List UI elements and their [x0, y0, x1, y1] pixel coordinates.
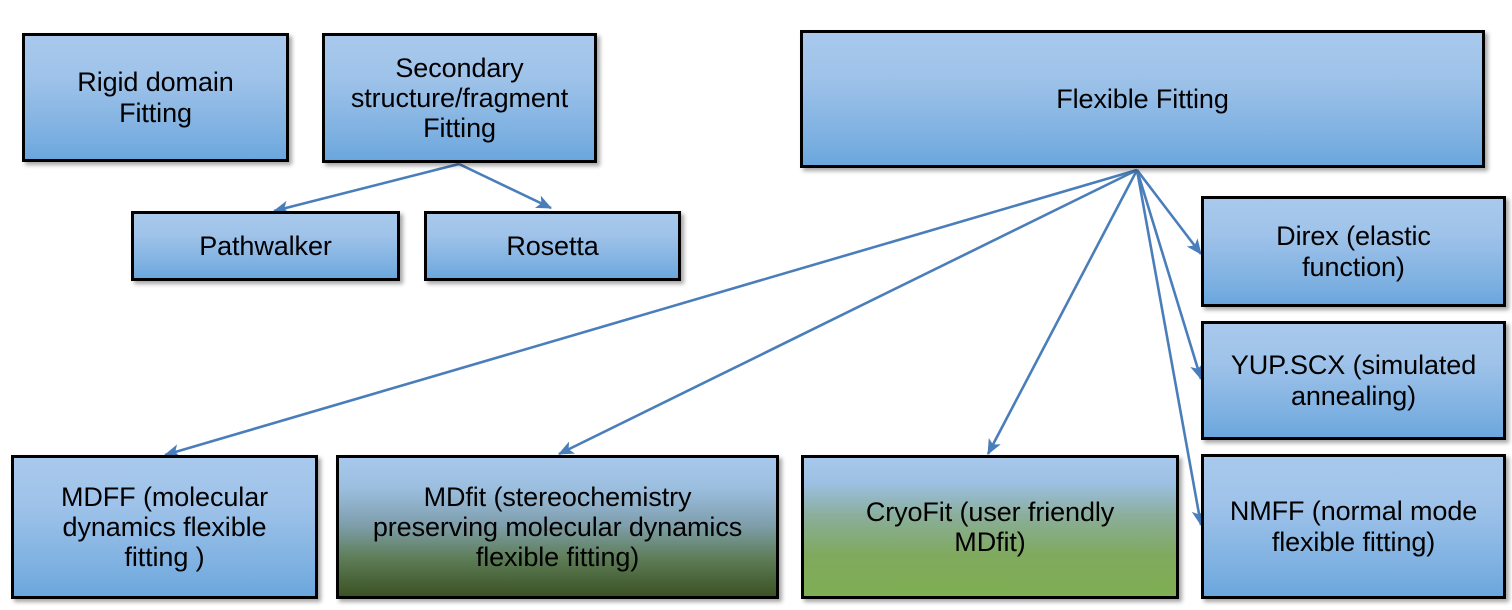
node-label-rigid-domain-fitting: Rigid domain Fitting	[69, 67, 241, 127]
node-label-rosetta: Rosetta	[498, 231, 606, 261]
node-label-cryofit: CryoFit (user friendly MDfit)	[858, 497, 1122, 557]
node-rosetta[interactable]: Rosetta	[424, 211, 681, 281]
node-label-pathwalker: Pathwalker	[191, 231, 340, 261]
arrow-flexible-to-cryofit	[988, 170, 1137, 454]
node-direx[interactable]: Direx (elastic function)	[1201, 196, 1506, 307]
node-label-secondary-structure-fragment-fitting: Secondary structure/fragment Fitting	[343, 53, 576, 144]
node-nmff[interactable]: NMFF (normal mode flexible fitting)	[1201, 454, 1506, 599]
arrow-flexible-to-direx	[1137, 170, 1201, 254]
node-label-mdfit: MDfit (stereochemistry preserving molecu…	[365, 482, 750, 573]
node-rigid-domain-fitting[interactable]: Rigid domain Fitting	[22, 33, 289, 162]
node-secondary-structure-fragment-fitting[interactable]: Secondary structure/fragment Fitting	[322, 33, 597, 163]
arrow-secondary-to-pathwalker	[274, 164, 459, 211]
node-cryofit[interactable]: CryoFit (user friendly MDfit)	[801, 455, 1179, 599]
node-label-mdff: MDFF (molecular dynamics flexible fittin…	[53, 482, 276, 573]
node-flexible-fitting[interactable]: Flexible Fitting	[800, 30, 1485, 168]
node-yup-scx[interactable]: YUP.SCX (simulated annealing)	[1201, 321, 1506, 440]
node-label-flexible-fitting: Flexible Fitting	[1048, 84, 1236, 114]
node-mdff[interactable]: MDFF (molecular dynamics flexible fittin…	[11, 455, 318, 599]
diagram-canvas: Rigid domain FittingSecondary structure/…	[0, 0, 1512, 610]
arrow-secondary-to-rosetta	[459, 164, 551, 208]
node-label-yup-scx: YUP.SCX (simulated annealing)	[1223, 350, 1484, 410]
node-label-nmff: NMFF (normal mode flexible fitting)	[1222, 496, 1485, 556]
node-pathwalker[interactable]: Pathwalker	[131, 211, 400, 281]
node-mdfit[interactable]: MDfit (stereochemistry preserving molecu…	[336, 455, 779, 599]
node-label-direx: Direx (elastic function)	[1268, 221, 1439, 281]
